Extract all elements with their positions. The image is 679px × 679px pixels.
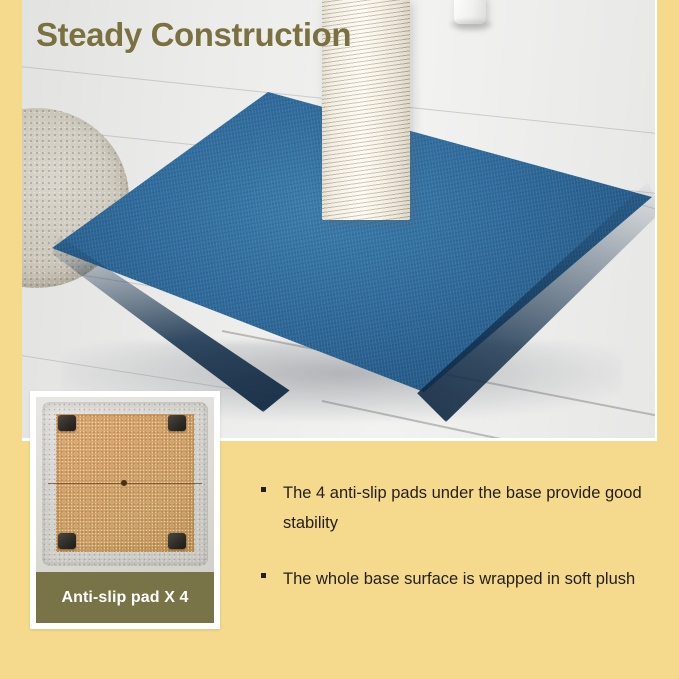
square-bullet-icon [261, 573, 266, 578]
furniture-leg [454, 0, 486, 24]
square-bullet-icon [261, 487, 266, 492]
hero-product-photo: Steady Construction [22, 0, 657, 441]
anti-slip-pad-photo [36, 397, 214, 572]
list-item: The whole base surface is wrapped in sof… [261, 564, 661, 594]
anti-slip-pad-icon [58, 533, 76, 549]
list-item-label: The whole base surface is wrapped in sof… [283, 564, 661, 594]
board-center-dot [121, 480, 127, 486]
anti-slip-pad-icon [58, 415, 76, 431]
list-item-label: The 4 anti-slip pads under the base prov… [283, 478, 661, 538]
anti-slip-pad-caption: Anti-slip pad X 4 [36, 572, 214, 623]
feature-list: The 4 anti-slip pads under the base prov… [261, 478, 661, 620]
page-title: Steady Construction [36, 16, 351, 54]
anti-slip-pad-icon [168, 533, 186, 549]
anti-slip-pad-icon [168, 415, 186, 431]
list-item: The 4 anti-slip pads under the base prov… [261, 478, 661, 538]
anti-slip-pad-card: Anti-slip pad X 4 [30, 391, 220, 629]
infographic-page: Steady Construction Anti-slip pad X 4 Th… [0, 0, 679, 679]
